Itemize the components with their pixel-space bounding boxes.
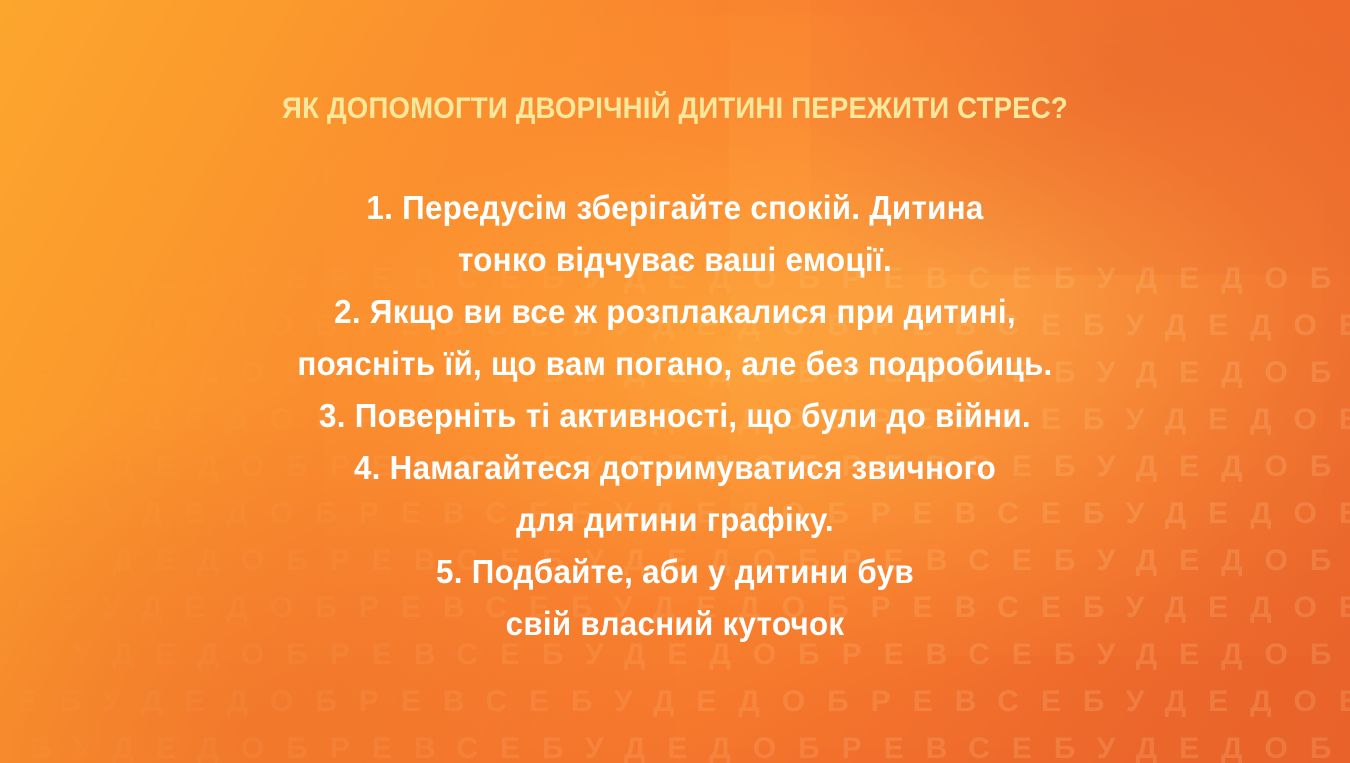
body-line: 2. Якщо ви все ж розплакалися при дитині…	[34, 286, 1317, 338]
body-line: для дитини графіку.	[34, 494, 1317, 546]
slide-body: 1. Передусім зберігайте спокій. Дитинато…	[0, 182, 1350, 650]
body-line: 5. Подбайте, аби у дитини був	[34, 546, 1317, 598]
body-line: поясніть їй, що вам погано, але без подр…	[34, 338, 1317, 390]
body-line: 3. Поверніть ті активності, що були до в…	[34, 390, 1317, 442]
body-line: 1. Передусім зберігайте спокій. Дитина	[34, 182, 1317, 234]
slide-title: ЯК ДОПОМОГТИ ДВОРІЧНІЙ ДИТИНІ ПЕРЕЖИТИ С…	[54, 92, 1296, 126]
slide-content: ЯК ДОПОМОГТИ ДВОРІЧНІЙ ДИТИНІ ПЕРЕЖИТИ С…	[0, 0, 1350, 763]
slide-canvas: ВСЕБУДЕДОБРЕВСЕБУДЕДОБРЕВСЕБУДЕДОБРЕВСЕБ…	[0, 0, 1350, 763]
body-line: свій власний куточок	[34, 598, 1317, 650]
body-line: 4. Намагайтеся дотримуватися звичного	[34, 442, 1317, 494]
body-line: тонко відчуває ваші емоції.	[34, 234, 1317, 286]
